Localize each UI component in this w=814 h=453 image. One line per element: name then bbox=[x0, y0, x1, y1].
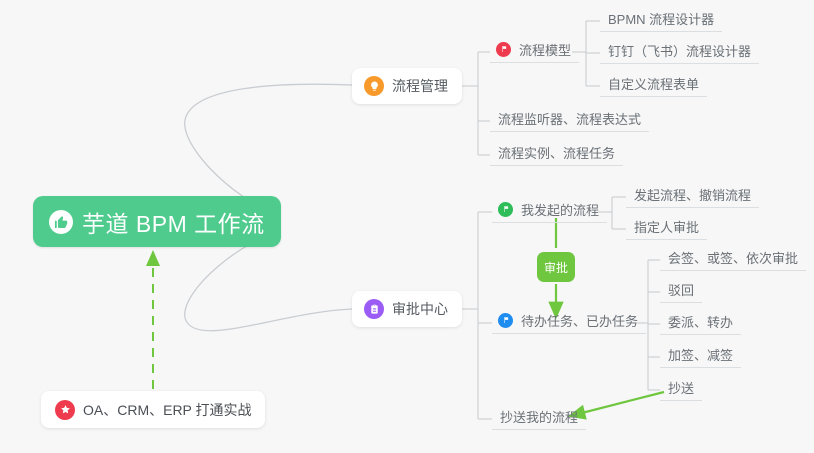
leaf-label: 委派、转办 bbox=[668, 312, 733, 331]
branch-node-approval-center[interactable]: 审批中心 bbox=[352, 291, 462, 327]
leaf-cc[interactable]: 抄送 bbox=[660, 379, 702, 401]
root-node[interactable]: 芋道 BPM 工作流 bbox=[33, 196, 281, 247]
flag-icon bbox=[496, 42, 511, 57]
leaf-label: 流程模型 bbox=[519, 40, 571, 59]
leaf-assignee-approval[interactable]: 指定人审批 bbox=[626, 218, 707, 240]
clipboard-icon bbox=[364, 299, 384, 319]
leaf-label: 指定人审批 bbox=[634, 217, 699, 236]
leaf-reject[interactable]: 驳回 bbox=[660, 281, 702, 303]
mindmap-canvas: 芋道 BPM 工作流 流程管理 审批中心 OA、CRM、ERP 打通实战 bbox=[0, 0, 814, 453]
flow-chip-label: 审批 bbox=[544, 259, 568, 276]
leaf-add-remove-sign[interactable]: 加签、减签 bbox=[660, 346, 741, 368]
leaf-label: 待办任务、已办任务 bbox=[521, 311, 638, 330]
leaf-label: 加签、减签 bbox=[668, 345, 733, 364]
leaf-label: BPMN 流程设计器 bbox=[608, 9, 714, 28]
leaf-label: 抄送我的流程 bbox=[500, 407, 578, 426]
leaf-label: 抄送 bbox=[668, 378, 694, 397]
leaf-label: 我发起的流程 bbox=[521, 200, 599, 219]
flag-icon bbox=[498, 313, 513, 328]
leaf-label: 发起流程、撤销流程 bbox=[634, 185, 751, 204]
leaf-label: 会签、或签、依次审批 bbox=[668, 248, 798, 267]
leaf-todo-done-tasks[interactable]: 待办任务、已办任务 bbox=[492, 312, 646, 334]
leaf-countersign[interactable]: 会签、或签、依次审批 bbox=[660, 249, 806, 271]
leaf-cc-to-me[interactable]: 抄送我的流程 bbox=[492, 408, 586, 430]
branch-node-process-management[interactable]: 流程管理 bbox=[352, 68, 462, 104]
leaf-my-initiated[interactable]: 我发起的流程 bbox=[492, 201, 607, 223]
leaf-dingtalk-designer[interactable]: 钉钉（飞书）流程设计器 bbox=[600, 42, 759, 64]
thumbs-up-icon bbox=[49, 210, 73, 234]
leaf-label: 流程实例、流程任务 bbox=[498, 143, 615, 162]
leaf-process-instance[interactable]: 流程实例、流程任务 bbox=[490, 144, 623, 166]
branch-label-approval-center: 审批中心 bbox=[392, 299, 448, 319]
leaf-label: 驳回 bbox=[668, 280, 694, 299]
bulb-icon bbox=[364, 76, 384, 96]
branch-label-process-management: 流程管理 bbox=[392, 76, 448, 96]
star-icon bbox=[55, 400, 75, 420]
leaf-label: 流程监听器、流程表达式 bbox=[498, 109, 641, 128]
leaf-label: 自定义流程表单 bbox=[608, 74, 699, 93]
tag-node-integration[interactable]: OA、CRM、ERP 打通实战 bbox=[41, 391, 265, 428]
leaf-process-listener[interactable]: 流程监听器、流程表达式 bbox=[490, 110, 649, 132]
leaf-bpmn-designer[interactable]: BPMN 流程设计器 bbox=[600, 10, 722, 32]
flag-icon bbox=[498, 202, 513, 217]
leaf-delegate-transfer[interactable]: 委派、转办 bbox=[660, 313, 741, 335]
flow-chip-approval: 审批 bbox=[537, 252, 575, 282]
tag-node-label: OA、CRM、ERP 打通实战 bbox=[83, 400, 252, 420]
root-label: 芋道 BPM 工作流 bbox=[82, 205, 265, 239]
leaf-process-model[interactable]: 流程模型 bbox=[490, 41, 579, 63]
leaf-start-cancel-process[interactable]: 发起流程、撤销流程 bbox=[626, 186, 759, 208]
leaf-label: 钉钉（飞书）流程设计器 bbox=[608, 41, 751, 60]
leaf-custom-form[interactable]: 自定义流程表单 bbox=[600, 75, 707, 97]
